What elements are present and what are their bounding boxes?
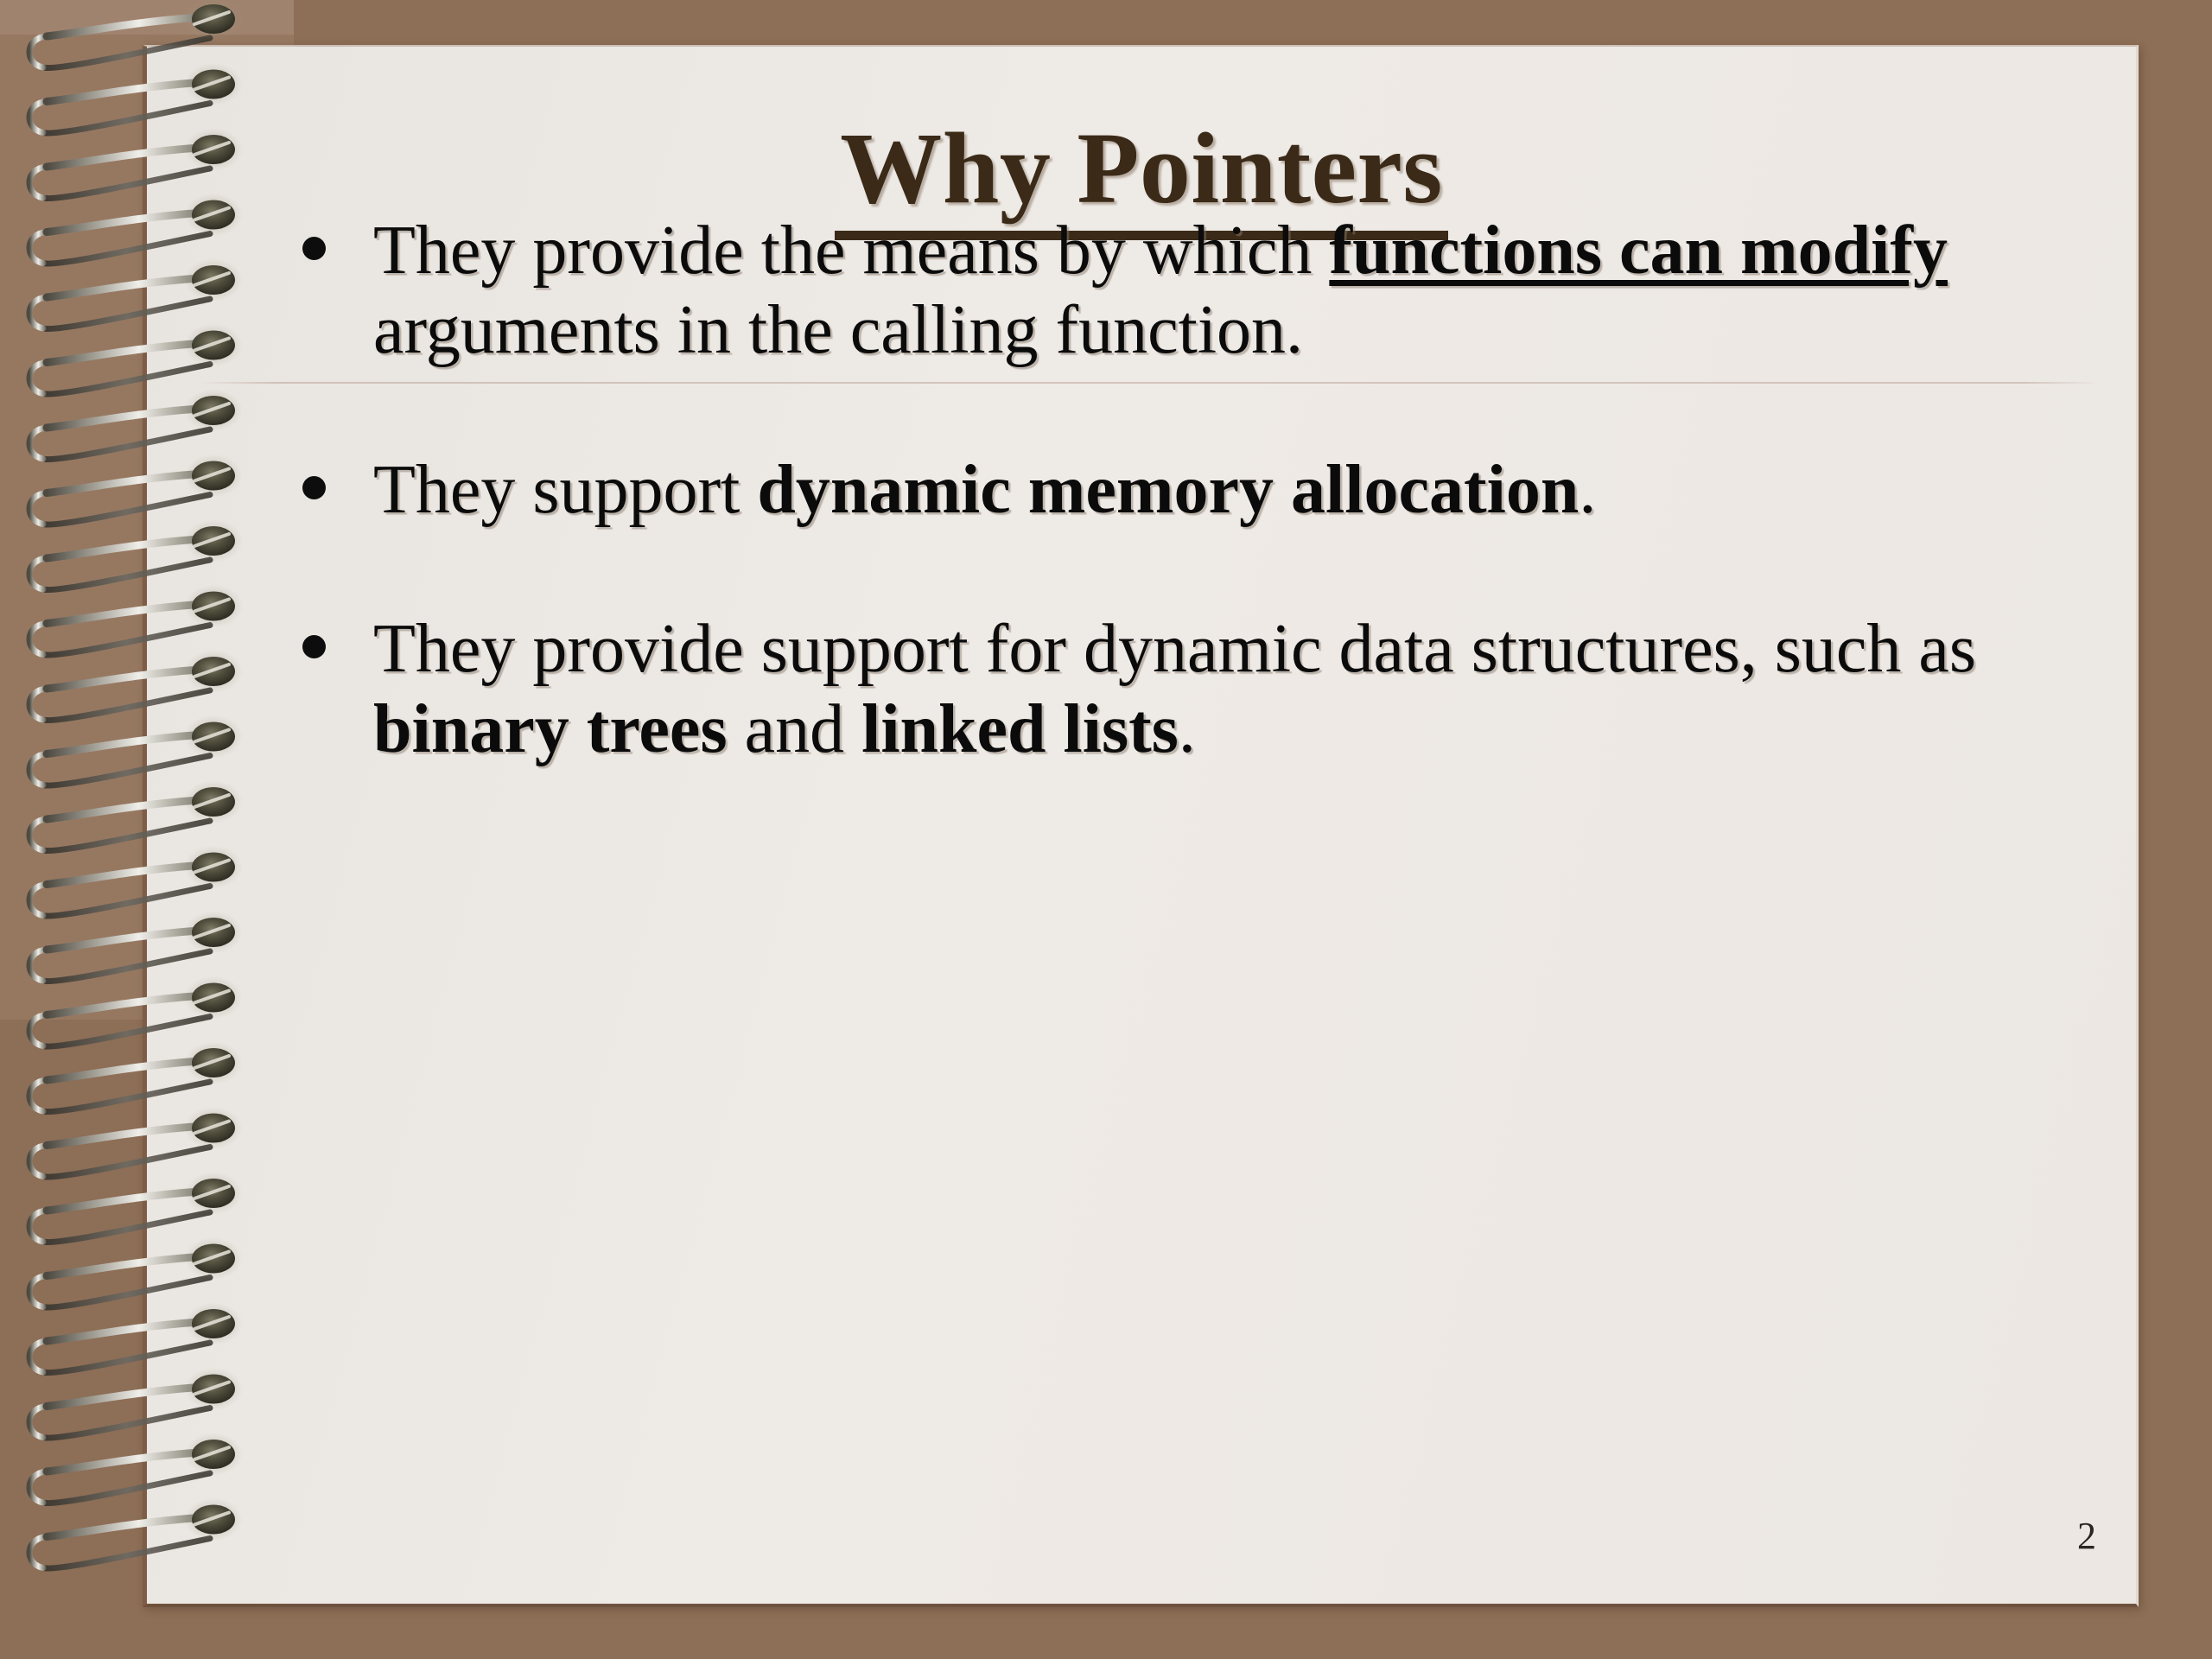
notebook-page: Why Pointers They provide the means by w… (143, 45, 2139, 1607)
bullet-text-segment: . (1179, 691, 1196, 767)
bullet-text-segment: functions can modify (1329, 213, 1948, 289)
bullet-text-segment: They provide the means by which (373, 213, 1329, 289)
bullet-text-segment: binary trees (373, 691, 728, 767)
background-accent-strip (0, 0, 294, 35)
bullet-text-segment: and (728, 691, 862, 767)
bullet-text-segment: arguments in the calling function. (373, 292, 1303, 368)
presentation-slide: Why Pointers They provide the means by w… (0, 0, 2212, 1659)
bullet-point-icon (302, 476, 326, 499)
bullet-text-segment: They provide support for dynamic data st… (373, 611, 1976, 687)
bullet-point-icon (302, 237, 326, 260)
bullet-text: They provide the means by which function… (373, 211, 2084, 371)
bullet-text-segment: They support (373, 452, 757, 528)
bullet-text-segment: . (1579, 452, 1596, 528)
faint-horizontal-rule (199, 382, 2100, 384)
bullet-text-segment: dynamic memory allocation (757, 452, 1579, 528)
bullet-item: They support dynamic memory allocation. (147, 450, 2136, 530)
bullet-item: They provide the means by which function… (147, 211, 2136, 371)
page-number: 2 (2077, 1517, 2096, 1555)
bullet-list: They provide the means by which function… (147, 211, 2136, 769)
bullet-item: They provide support for dynamic data st… (147, 609, 2136, 769)
bullet-text: They support dynamic memory allocation. (373, 450, 2084, 530)
bullet-text: They provide support for dynamic data st… (373, 609, 2084, 769)
bullet-point-icon (302, 635, 326, 658)
bullet-text-segment: linked lists (861, 691, 1179, 767)
